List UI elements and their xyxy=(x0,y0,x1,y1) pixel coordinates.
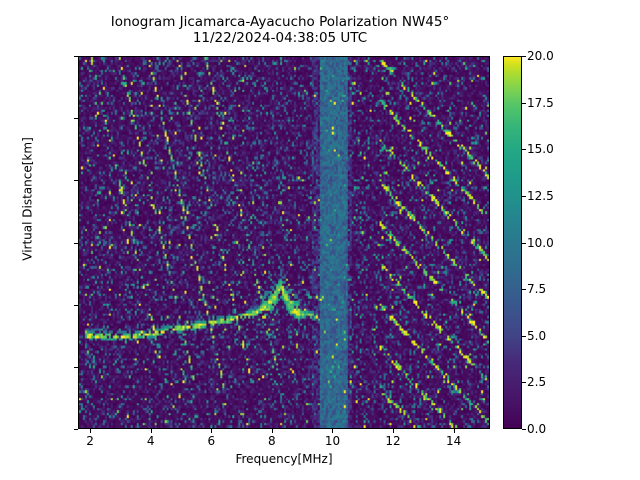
y-tick-mark xyxy=(74,118,78,119)
x-tick-label: 12 xyxy=(373,434,413,448)
colorbar-tick-mark xyxy=(522,429,526,430)
colorbar-tick-mark xyxy=(522,336,526,337)
ionogram-figure: Ionogram Jicamarca-Ayacucho Polarization… xyxy=(0,0,640,480)
colorbar-tick-mark xyxy=(522,289,526,290)
colorbar-tick-label: 10.0 xyxy=(527,236,587,250)
y-tick-mark xyxy=(74,305,78,306)
plot-axes xyxy=(78,56,490,429)
x-tick-mark xyxy=(393,429,394,433)
x-tick-label: 2 xyxy=(70,434,110,448)
ionogram-heatmap xyxy=(79,57,489,428)
x-tick-mark xyxy=(454,429,455,433)
colorbar xyxy=(503,56,522,429)
y-tick-mark xyxy=(74,180,78,181)
x-tick-mark xyxy=(332,429,333,433)
x-tick-mark xyxy=(272,429,273,433)
x-tick-label: 14 xyxy=(434,434,474,448)
x-axis-label: Frequency[MHz] xyxy=(78,452,490,466)
colorbar-tick-mark xyxy=(522,149,526,150)
colorbar-tick-label: 12.5 xyxy=(527,189,587,203)
title-line-2: 11/22/2024-04:38:05 UTC xyxy=(0,30,560,46)
x-tick-mark xyxy=(90,429,91,433)
colorbar-tick-mark xyxy=(522,196,526,197)
y-axis-label: Virtual Distance[km] xyxy=(21,13,35,386)
colorbar-tick-mark xyxy=(522,243,526,244)
x-tick-mark xyxy=(211,429,212,433)
title-line-1: Ionogram Jicamarca-Ayacucho Polarization… xyxy=(111,14,449,30)
x-tick-label: 4 xyxy=(131,434,171,448)
colorbar-tick-mark xyxy=(522,382,526,383)
colorbar-tick-label: 15.0 xyxy=(527,142,587,156)
y-tick-mark xyxy=(74,429,78,430)
page-title: Ionogram Jicamarca-Ayacucho Polarization… xyxy=(0,14,560,46)
y-tick-mark xyxy=(74,56,78,57)
colorbar-tick-mark xyxy=(522,56,526,57)
y-tick-mark xyxy=(74,243,78,244)
colorbar-tick-label: 17.5 xyxy=(527,96,587,110)
y-tick-mark xyxy=(74,367,78,368)
x-tick-label: 6 xyxy=(191,434,231,448)
colorbar-tick-mark xyxy=(522,103,526,104)
colorbar-tick-label: 0.0 xyxy=(527,422,587,436)
x-tick-label: 8 xyxy=(252,434,292,448)
colorbar-tick-label: 5.0 xyxy=(527,329,587,343)
x-tick-mark xyxy=(151,429,152,433)
colorbar-tick-label: 20.0 xyxy=(527,49,587,63)
colorbar-tick-label: 7.5 xyxy=(527,282,587,296)
x-tick-label: 10 xyxy=(312,434,352,448)
colorbar-tick-label: 2.5 xyxy=(527,375,587,389)
